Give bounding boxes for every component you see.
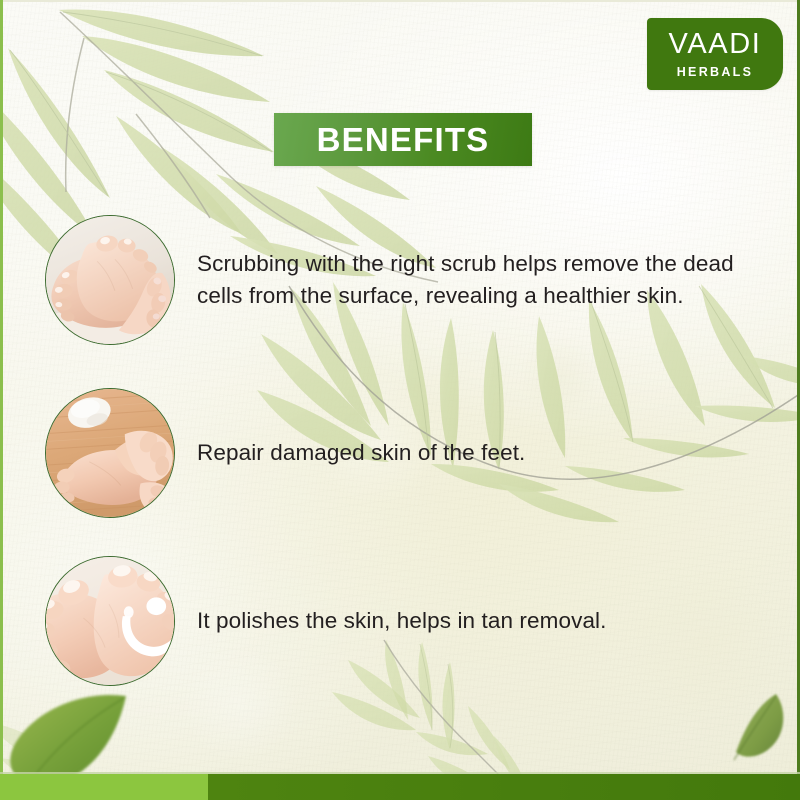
border-top	[0, 0, 800, 2]
logo-sub-text: HERBALS	[677, 66, 754, 79]
poster-canvas: VAADI HERBALS BENEFITS	[0, 0, 800, 800]
feet-with-hand-photo	[45, 215, 175, 345]
feet-cream-smiley-photo	[45, 556, 175, 686]
benefit-item-2: Repair damaged skin of the feet.	[45, 388, 767, 518]
benefits-banner: BENEFITS	[274, 113, 532, 166]
benefit-text-3: It polishes the skin, helps in tan remov…	[197, 605, 767, 637]
brand-logo[interactable]: VAADI HERBALS	[647, 18, 783, 90]
border-bottom-strip	[0, 774, 800, 800]
foot-massage-pumice-photo	[45, 388, 175, 518]
benefit-item-1: Scrubbing with the right scrub helps rem…	[45, 215, 767, 345]
page-title: BENEFITS	[317, 123, 490, 156]
border-left	[0, 0, 3, 800]
benefit-text-1: Scrubbing with the right scrub helps rem…	[197, 248, 767, 312]
benefit-text-2: Repair damaged skin of the feet.	[197, 437, 767, 469]
logo-main-text: VAADI	[669, 30, 762, 59]
benefit-item-3: It polishes the skin, helps in tan remov…	[45, 556, 767, 686]
